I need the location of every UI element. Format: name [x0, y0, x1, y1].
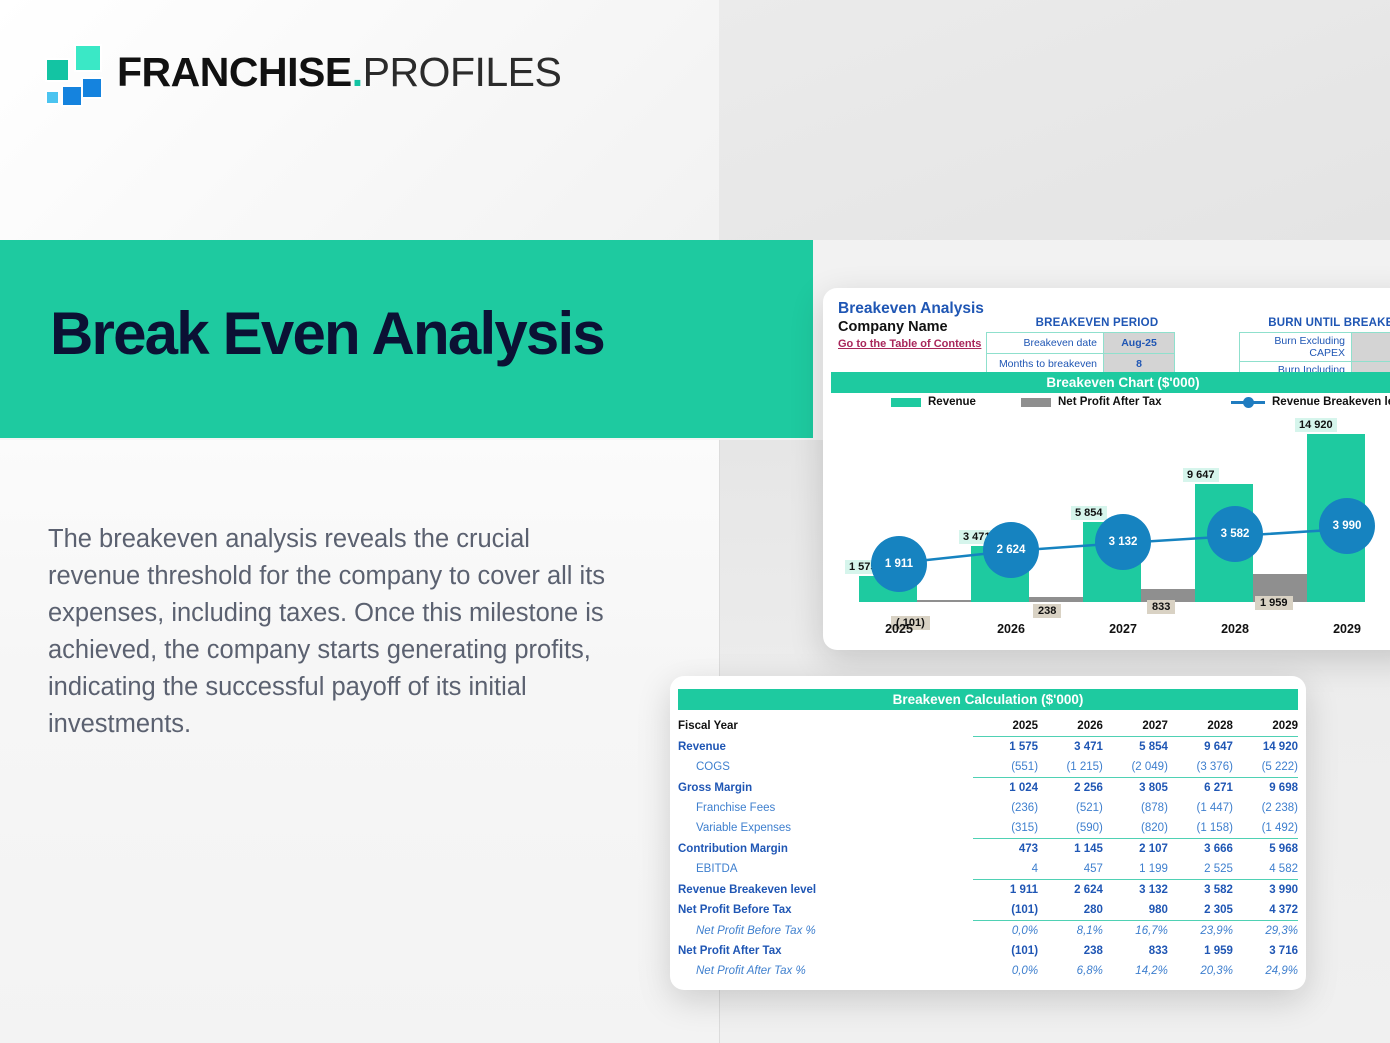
- cell: 3 471: [1038, 737, 1103, 758]
- breakeven-chart-plot: 1 575 ( 101) 1 911 2025 3 471 238 2 624 …: [831, 418, 1390, 650]
- cell: 6,8%: [1038, 961, 1103, 981]
- cell: 3 132: [1103, 880, 1168, 901]
- breakeven-calculation-table: Fiscal Year 2025 2026 2027 2028 2029 Rev…: [678, 716, 1298, 981]
- cell: 4 582: [1233, 859, 1298, 880]
- breakeven-sheet: Breakeven Analysis Company Name Go to th…: [823, 288, 1390, 650]
- cell: (101): [973, 900, 1038, 921]
- table-row: Net Profit Before Tax (101) 280 980 2 30…: [678, 900, 1298, 921]
- cell: 3 582: [1168, 880, 1233, 901]
- row-label: Net Profit After Tax %: [678, 961, 973, 981]
- burn-until-breakeven-header: BURN UNTIL BREAKEVEN: [1228, 317, 1390, 329]
- cell: 833: [1103, 941, 1168, 961]
- legend-item-revenue-breakeven-level: Revenue Breakeven level: [1231, 396, 1390, 408]
- chart-legend: Revenue Net Profit After Tax Revenue Bre…: [831, 396, 1390, 416]
- cell: (590): [1038, 818, 1103, 839]
- legend-label: Revenue: [928, 396, 976, 408]
- cell: (878): [1103, 798, 1168, 818]
- cell: 3 805: [1103, 778, 1168, 799]
- logo-squares-icon: [45, 44, 103, 100]
- row-label: Variable Expenses: [678, 818, 973, 839]
- cell: 8,1%: [1038, 921, 1103, 942]
- cell: 29,3%: [1233, 921, 1298, 942]
- row-label: Contribution Margin: [678, 839, 973, 860]
- breakeven-bubble-2029: 3 990: [1319, 498, 1375, 554]
- cell: 980: [1103, 900, 1168, 921]
- cell: (1 492): [1233, 818, 1298, 839]
- cell: 473: [973, 839, 1038, 860]
- table-row: Net Profit After Tax (101) 238 833 1 959…: [678, 941, 1298, 961]
- cell: (551): [973, 757, 1038, 778]
- company-name: Company Name: [838, 319, 948, 335]
- table-row: Breakeven date Aug-25: [987, 333, 1175, 354]
- cell: 23,9%: [1168, 921, 1233, 942]
- chart-title: Breakeven Chart ($'000): [831, 372, 1390, 393]
- cell: (2 238): [1233, 798, 1298, 818]
- cell: 9 698: [1233, 778, 1298, 799]
- cell: 1 024: [973, 778, 1038, 799]
- legend-swatch-icon: [1021, 398, 1051, 407]
- cell: (1 447): [1168, 798, 1233, 818]
- year-header-2025: 2025: [973, 716, 1038, 737]
- burn-excluding-capex-value[interactable]: [1352, 333, 1390, 362]
- burn-excluding-capex-label: Burn Excluding CAPEX: [1240, 333, 1352, 362]
- cell: (5 222): [1233, 757, 1298, 778]
- cell: 6 271: [1168, 778, 1233, 799]
- cell: (315): [973, 818, 1038, 839]
- cell: 2 525: [1168, 859, 1233, 880]
- breakeven-date-value[interactable]: Aug-25: [1104, 333, 1175, 354]
- cell: 14 920: [1233, 737, 1298, 758]
- cell: (1 158): [1168, 818, 1233, 839]
- table-header-row: Fiscal Year 2025 2026 2027 2028 2029: [678, 716, 1298, 737]
- year-header-2026: 2026: [1038, 716, 1103, 737]
- table-row: Net Profit After Tax % 0,0% 6,8% 14,2% 2…: [678, 961, 1298, 981]
- cell: 2 305: [1168, 900, 1233, 921]
- table-row: EBITDA 4 457 1 199 2 525 4 582: [678, 859, 1298, 880]
- cell: 14,2%: [1103, 961, 1168, 981]
- row-label: Revenue Breakeven level: [678, 880, 973, 901]
- breakeven-date-label: Breakeven date: [987, 333, 1104, 354]
- row-label: Franchise Fees: [678, 798, 973, 818]
- cell: (101): [973, 941, 1038, 961]
- hero-paragraph: The breakeven analysis reveals the cruci…: [48, 521, 620, 743]
- legend-label: Net Profit After Tax: [1058, 396, 1162, 408]
- breakeven-period-table: Breakeven date Aug-25 Months to breakeve…: [986, 332, 1175, 375]
- legend-item-revenue: Revenue: [891, 396, 976, 408]
- logo-word-dot: .: [352, 49, 363, 95]
- breakeven-bubble-2026: 2 624: [983, 522, 1039, 578]
- row-label: Net Profit Before Tax %: [678, 921, 973, 942]
- breakeven-calculation-card: Breakeven Calculation ($'000) Fiscal Yea…: [670, 676, 1306, 990]
- row-label: Gross Margin: [678, 778, 973, 799]
- breakeven-bubble-2027: 3 132: [1095, 514, 1151, 570]
- cell: 238: [1038, 941, 1103, 961]
- cell: (3 376): [1168, 757, 1233, 778]
- cell: 9 647: [1168, 737, 1233, 758]
- row-label: EBITDA: [678, 859, 973, 880]
- cell: 3 990: [1233, 880, 1298, 901]
- logo-wordmark: FRANCHISE.PROFILES: [117, 52, 561, 93]
- cell: 4 372: [1233, 900, 1298, 921]
- table-of-contents-link[interactable]: Go to the Table of Contents: [838, 338, 981, 350]
- cell: 4: [973, 859, 1038, 880]
- row-label: COGS: [678, 757, 973, 778]
- cell: 1 911: [973, 880, 1038, 901]
- logo-word-light: PROFILES: [363, 49, 562, 95]
- cell: (521): [1038, 798, 1103, 818]
- table-row: Revenue Breakeven level 1 911 2 624 3 13…: [678, 880, 1298, 901]
- cell: 1 199: [1103, 859, 1168, 880]
- cell: 0,0%: [973, 921, 1038, 942]
- cell: 1 959: [1168, 941, 1233, 961]
- cell: 16,7%: [1103, 921, 1168, 942]
- cell: (236): [973, 798, 1038, 818]
- cell: 1 145: [1038, 839, 1103, 860]
- cell: 24,9%: [1233, 961, 1298, 981]
- table-row: Revenue 1 575 3 471 5 854 9 647 14 920: [678, 737, 1298, 758]
- legend-label: Revenue Breakeven level: [1272, 396, 1390, 408]
- cell: 457: [1038, 859, 1103, 880]
- cell: 2 107: [1103, 839, 1168, 860]
- year-header-2027: 2027: [1103, 716, 1168, 737]
- table-row: COGS (551) (1 215) (2 049) (3 376) (5 22…: [678, 757, 1298, 778]
- breakeven-bubble-2025: 1 911: [871, 536, 927, 592]
- logo-word-bold: FRANCHISE: [117, 49, 352, 95]
- cell: 0,0%: [973, 961, 1038, 981]
- cell: 280: [1038, 900, 1103, 921]
- breakeven-period-header: BREAKEVEN PERIOD: [1003, 317, 1191, 329]
- page-title: Break Even Analysis: [50, 304, 604, 364]
- breakeven-analysis-card: Breakeven Analysis Company Name Go to th…: [823, 288, 1390, 650]
- cell: 5 854: [1103, 737, 1168, 758]
- cell: (820): [1103, 818, 1168, 839]
- brand-logo[interactable]: FRANCHISE.PROFILES: [45, 44, 561, 100]
- cell: 2 256: [1038, 778, 1103, 799]
- table-row: Contribution Margin 473 1 145 2 107 3 66…: [678, 839, 1298, 860]
- table-row: Gross Margin 1 024 2 256 3 805 6 271 9 6…: [678, 778, 1298, 799]
- cell: 2 624: [1038, 880, 1103, 901]
- bg-panel-top-left: [0, 0, 719, 240]
- row-label: Net Profit Before Tax: [678, 900, 973, 921]
- cell: 5 968: [1233, 839, 1298, 860]
- table-row: Variable Expenses (315) (590) (820) (1 1…: [678, 818, 1298, 839]
- cell: 3 666: [1168, 839, 1233, 860]
- table-row: Net Profit Before Tax % 0,0% 8,1% 16,7% …: [678, 921, 1298, 942]
- calculation-table-title: Breakeven Calculation ($'000): [678, 689, 1298, 710]
- table-row: Franchise Fees (236) (521) (878) (1 447)…: [678, 798, 1298, 818]
- legend-item-net-profit-after-tax: Net Profit After Tax: [1021, 396, 1162, 408]
- cell: 3 716: [1233, 941, 1298, 961]
- legend-swatch-icon: [891, 398, 921, 407]
- cell: 1 575: [973, 737, 1038, 758]
- sheet-title: Breakeven Analysis: [838, 300, 984, 318]
- fiscal-year-label: Fiscal Year: [678, 716, 973, 737]
- bg-panel-top-right: [719, 0, 1390, 240]
- table-body: Fiscal Year 2025 2026 2027 2028 2029 Rev…: [678, 716, 1298, 981]
- year-header-2028: 2028: [1168, 716, 1233, 737]
- cell: (1 215): [1038, 757, 1103, 778]
- legend-line-marker-icon: [1231, 401, 1265, 404]
- row-label: Revenue: [678, 737, 973, 758]
- cell: (2 049): [1103, 757, 1168, 778]
- row-label: Net Profit After Tax: [678, 941, 973, 961]
- breakeven-bubble-2028: 3 582: [1207, 506, 1263, 562]
- cell: 20,3%: [1168, 961, 1233, 981]
- year-header-2029: 2029: [1233, 716, 1298, 737]
- table-row: Burn Excluding CAPEX: [1240, 333, 1390, 362]
